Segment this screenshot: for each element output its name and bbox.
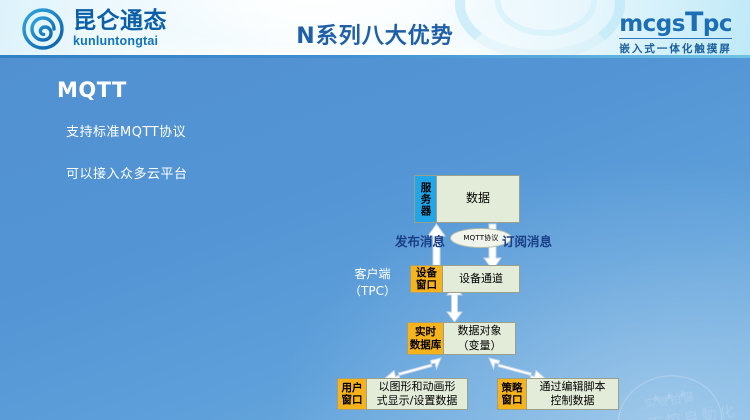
server-node: 服务器 数据: [414, 175, 520, 223]
user-window-tag: 用户窗口: [337, 378, 367, 410]
section-heading: MQTT: [57, 78, 127, 102]
server-data-panel: 数据: [437, 175, 520, 223]
realtime-db-tag: 实时数据库: [407, 322, 444, 355]
bullet-item-2: 可以接入众多云平台: [66, 163, 188, 182]
slide-body: MQTT 支持标准MQTT协议 可以接入众多云平台 服务器 数据 发: [0, 58, 750, 420]
device-channel-panel: 设备通道: [443, 265, 520, 293]
product-logo: mcgsTpc 嵌入式一体化触摸屏: [619, 9, 732, 56]
subscribe-message-label: 订阅消息: [502, 231, 552, 250]
realtime-db-node: 实时数据库 数据对象（变量）: [407, 322, 516, 355]
client-label: 客户端（TPC）: [335, 266, 410, 301]
slide: 昆仑通态 kunluntongtai N系列八大优势 mcgsTpc 嵌入式一体…: [0, 0, 750, 420]
data-object-panel: 数据对象（变量）: [444, 322, 516, 355]
watermark-stamp: ★ ★ ★ ★ ★ ★ 实物拍摄 9 W 工控自動化 https://zwkjd…: [600, 370, 740, 420]
strategy-window-tag: 策略窗口: [497, 378, 527, 410]
product-name-suffix: pc: [703, 11, 732, 37]
watermark-line-1: 实物拍摄: [600, 381, 741, 419]
watermark-line-2: 9 W 工控自動化: [599, 399, 741, 420]
publish-message-label: 发布消息: [395, 231, 445, 250]
slide-header: 昆仑通态 kunluntongtai N系列八大优势 mcgsTpc 嵌入式一体…: [0, 0, 750, 58]
strategy-window-panel: 通过编辑脚本控制数据: [527, 378, 619, 410]
product-name: mcgsTpc: [619, 9, 732, 36]
svg-text:★ ★ ★: ★ ★ ★: [650, 387, 688, 406]
user-window-node: 用户窗口 以图形和动画形式显示/设置数据: [337, 378, 468, 410]
user-window-panel: 以图形和动画形式显示/设置数据: [367, 378, 468, 410]
bullet-item-1: 支持标准MQTT协议: [66, 121, 186, 140]
server-tag: 服务器: [414, 175, 437, 223]
device-window-node: 设备窗口 设备通道: [410, 265, 520, 293]
device-window-tag: 设备窗口: [410, 265, 443, 293]
product-subtitle: 嵌入式一体化触摸屏: [619, 38, 732, 56]
product-name-t: T: [685, 7, 703, 38]
diagram-arrows: [0, 58, 750, 420]
strategy-window-node: 策略窗口 通过编辑脚本控制数据: [497, 378, 619, 410]
product-name-prefix: mcgs: [619, 11, 685, 37]
